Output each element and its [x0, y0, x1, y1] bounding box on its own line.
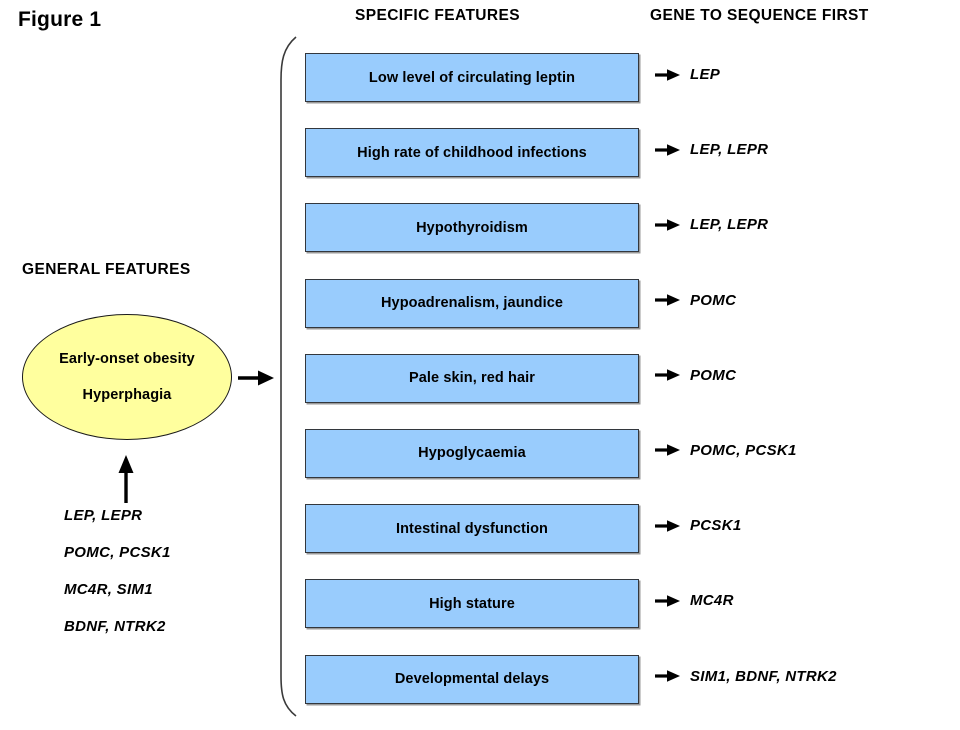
general-gene-list-item: MC4R, SIM1: [64, 580, 171, 617]
feature-box[interactable]: Low level of circulating leptin: [305, 53, 639, 102]
feature-row: Intestinal dysfunction PCSK1: [305, 504, 639, 579]
feature-row: Hypothyroidism LEP, LEPR: [305, 203, 639, 278]
feature-box[interactable]: Hypothyroidism: [305, 203, 639, 252]
ellipse-line-hyperphagia: Hyperphagia: [83, 387, 172, 403]
gene-annotation: POMC: [655, 367, 736, 384]
column-header-specific-features: SPECIFIC FEATURES: [355, 7, 520, 25]
general-gene-list-item: BDNF, NTRK2: [64, 617, 171, 654]
column-header-gene-to-sequence-first: GENE TO SEQUENCE FIRST: [650, 7, 869, 25]
column-header-general-features: GENERAL FEATURES: [22, 261, 191, 279]
arrow-right-icon: [238, 371, 274, 386]
arrow-up-icon: [119, 455, 134, 503]
gene-label: LEP, LEPR: [690, 141, 768, 158]
feature-label: High rate of childhood infections: [357, 145, 587, 161]
gene-annotation: POMC, PCSK1: [655, 442, 797, 459]
feature-label: High stature: [429, 596, 515, 612]
feature-label: Pale skin, red hair: [409, 370, 535, 386]
gene-annotation: LEP, LEPR: [655, 216, 768, 233]
feature-label: Intestinal dysfunction: [396, 521, 548, 537]
feature-row: Pale skin, red hair POMC: [305, 354, 639, 429]
arrow-right-icon: [655, 293, 681, 307]
arrow-right-icon: [655, 519, 681, 533]
arrow-right-icon: [655, 68, 681, 82]
feature-box[interactable]: Intestinal dysfunction: [305, 504, 639, 553]
gene-annotation: LEP, LEPR: [655, 141, 768, 158]
feature-label: Hypoglycaemia: [418, 445, 526, 461]
feature-label: Hypothyroidism: [416, 220, 528, 236]
gene-label: POMC, PCSK1: [690, 442, 797, 459]
general-gene-list-item: POMC, PCSK1: [64, 543, 171, 580]
gene-annotation: MC4R: [655, 592, 734, 609]
feature-box-column: Low level of circulating leptin LEP High…: [305, 53, 639, 730]
figure-label: Figure 1: [18, 8, 101, 32]
arrow-right-icon: [655, 143, 681, 157]
gene-label: LEP, LEPR: [690, 216, 768, 233]
gene-label: LEP: [690, 66, 720, 83]
gene-annotation: PCSK1: [655, 517, 742, 534]
feature-row: Low level of circulating leptin LEP: [305, 53, 639, 128]
feature-box[interactable]: High stature: [305, 579, 639, 628]
arrow-right-icon: [655, 443, 681, 457]
feature-row: Developmental delays SIM1, BDNF, NTRK2: [305, 655, 639, 730]
feature-row: High rate of childhood infections LEP, L…: [305, 128, 639, 203]
feature-label: Low level of circulating leptin: [369, 70, 575, 86]
feature-label: Hypoadrenalism, jaundice: [381, 295, 563, 311]
arrow-right-icon: [655, 669, 681, 683]
gene-label: POMC: [690, 367, 736, 384]
feature-box[interactable]: High rate of childhood infections: [305, 128, 639, 177]
arrow-right-icon: [655, 368, 681, 382]
gene-annotation: LEP: [655, 66, 720, 83]
ellipse-line-early-onset-obesity: Early-onset obesity: [59, 351, 195, 367]
gene-label: MC4R: [690, 592, 734, 609]
gene-annotation: POMC: [655, 292, 736, 309]
general-gene-list: LEP, LEPR POMC, PCSK1 MC4R, SIM1 BDNF, N…: [64, 506, 171, 654]
feature-box[interactable]: Pale skin, red hair: [305, 354, 639, 403]
feature-row: Hypoadrenalism, jaundice POMC: [305, 279, 639, 354]
gene-label: PCSK1: [690, 517, 742, 534]
general-gene-list-item: LEP, LEPR: [64, 506, 171, 543]
feature-label: Developmental delays: [395, 671, 549, 687]
feature-box[interactable]: Hypoglycaemia: [305, 429, 639, 478]
arrow-right-icon: [655, 218, 681, 232]
arrow-right-icon: [655, 594, 681, 608]
general-features-ellipse: Early-onset obesity Hyperphagia: [22, 314, 232, 440]
left-brace-icon: [281, 37, 296, 716]
feature-box[interactable]: Hypoadrenalism, jaundice: [305, 279, 639, 328]
feature-box[interactable]: Developmental delays: [305, 655, 639, 704]
gene-label: POMC: [690, 292, 736, 309]
feature-row: Hypoglycaemia POMC, PCSK1: [305, 429, 639, 504]
gene-annotation: SIM1, BDNF, NTRK2: [655, 668, 837, 685]
figure-diagram: Figure 1 SPECIFIC FEATURES GENE TO SEQUE…: [0, 0, 960, 720]
feature-row: High stature MC4R: [305, 579, 639, 654]
gene-label: SIM1, BDNF, NTRK2: [690, 668, 837, 685]
